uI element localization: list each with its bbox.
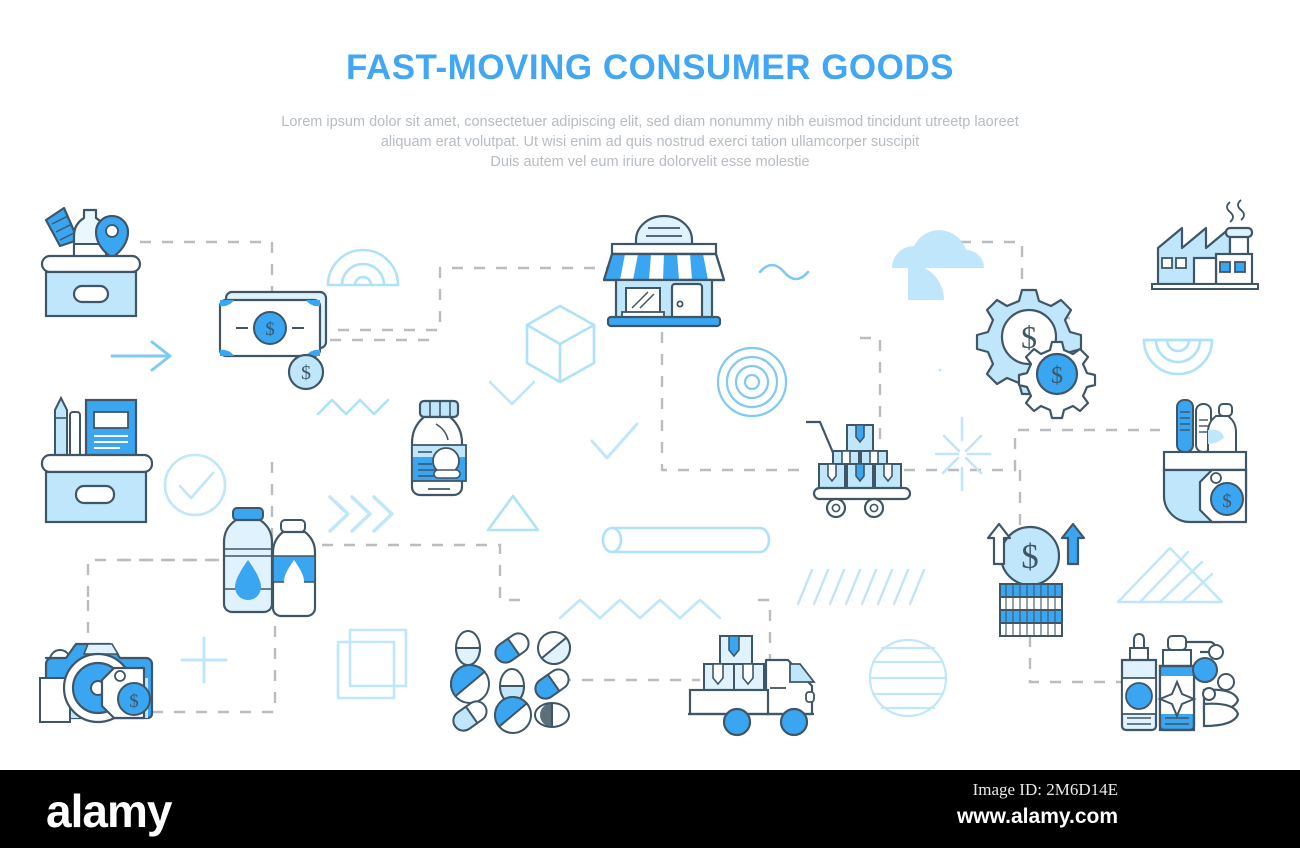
storefront-icon: [604, 216, 724, 326]
image-id-label: Image ID: 2M6D14E: [973, 780, 1118, 800]
poster-canvas: $ $: [0, 0, 1300, 770]
water-bottles-icon: [224, 508, 315, 616]
grocery-box-icon: [42, 208, 140, 316]
gears-dollar-icon: $ $: [977, 290, 1095, 418]
svg-text:$: $: [265, 319, 275, 340]
medicine-bottle-icon: [412, 401, 466, 495]
svg-text:$: $: [1051, 363, 1063, 389]
toiletries-bag-icon: $: [1164, 400, 1246, 522]
alamy-url-label: www.alamy.com: [957, 805, 1118, 829]
alamy-logo: alamy: [46, 784, 171, 838]
pills-capsules-icon: [443, 625, 576, 740]
svg-text:$: $: [1222, 491, 1232, 512]
coins-growth-icon: $: [988, 524, 1084, 636]
cart-boxes-icon: [806, 422, 910, 517]
svg-text:$: $: [129, 691, 139, 712]
delivery-truck-icon: [688, 636, 814, 735]
camera-price-tag-icon: $: [40, 644, 152, 722]
svg-text:$: $: [301, 362, 311, 384]
page-subtitle: Lorem ipsum dolor sit amet, consectetuer…: [240, 112, 1060, 172]
stationery-box-icon: [42, 398, 152, 522]
factory-icon: [1152, 200, 1258, 289]
cleaning-bottles-icon: [1122, 634, 1238, 730]
watermark-bar: alamy Image ID: 2M6D14E www.alamy.com: [0, 770, 1300, 848]
svg-text:$: $: [1021, 537, 1039, 576]
page-title: FAST-MOVING CONSUMER GOODS: [0, 48, 1300, 88]
cash-stack-dollar-icon: $ $: [220, 292, 326, 389]
